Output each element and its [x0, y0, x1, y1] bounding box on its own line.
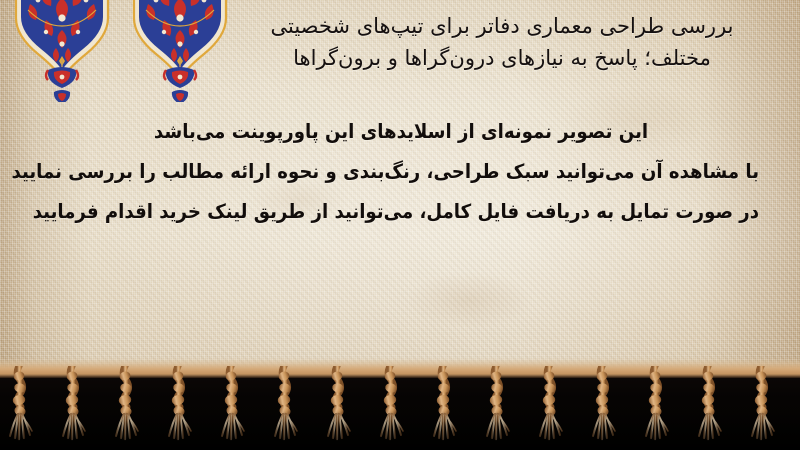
- tassel: [116, 366, 142, 446]
- body-line-1: این تصویر نمونه‌ای از اسلایدهای این پاور…: [43, 112, 759, 152]
- tassel: [169, 366, 195, 446]
- tassel: [593, 366, 619, 446]
- tassel: [540, 366, 566, 446]
- title-line-2: مختلف؛ پاسخ به نیازهای درون‌گراها و برون…: [222, 42, 782, 74]
- body-line-3: در صورت تمایل به دریافت فایل کامل، می‌تو…: [43, 192, 759, 232]
- persian-medallion-icon: [12, 0, 112, 102]
- slide-body: این تصویر نمونه‌ای از اسلایدهای این پاور…: [16, 112, 786, 232]
- tassel: [752, 366, 778, 446]
- body-line-2: با مشاهده آن می‌توانید سبک طراحی، رنگ‌بن…: [43, 152, 759, 192]
- slide-title: بررسی طراحی معماری دفاتر برای تیپ‌های شخ…: [222, 10, 782, 74]
- carpet-fringe: [0, 358, 800, 450]
- title-line-1: بررسی طراحی معماری دفاتر برای تیپ‌های شخ…: [222, 10, 782, 42]
- tassel: [275, 366, 301, 446]
- tassel: [381, 366, 407, 446]
- tassel: [434, 366, 460, 446]
- tassel: [646, 366, 672, 446]
- tassel: [699, 366, 725, 446]
- tassel: [328, 366, 354, 446]
- tassel: [222, 366, 248, 446]
- persian-medallion-icon-2: [130, 0, 230, 102]
- presentation-slide: بررسی طراحی معماری دفاتر برای تیپ‌های شخ…: [0, 0, 800, 450]
- tassel: [10, 366, 36, 446]
- tassel: [63, 366, 89, 446]
- tassel: [487, 366, 513, 446]
